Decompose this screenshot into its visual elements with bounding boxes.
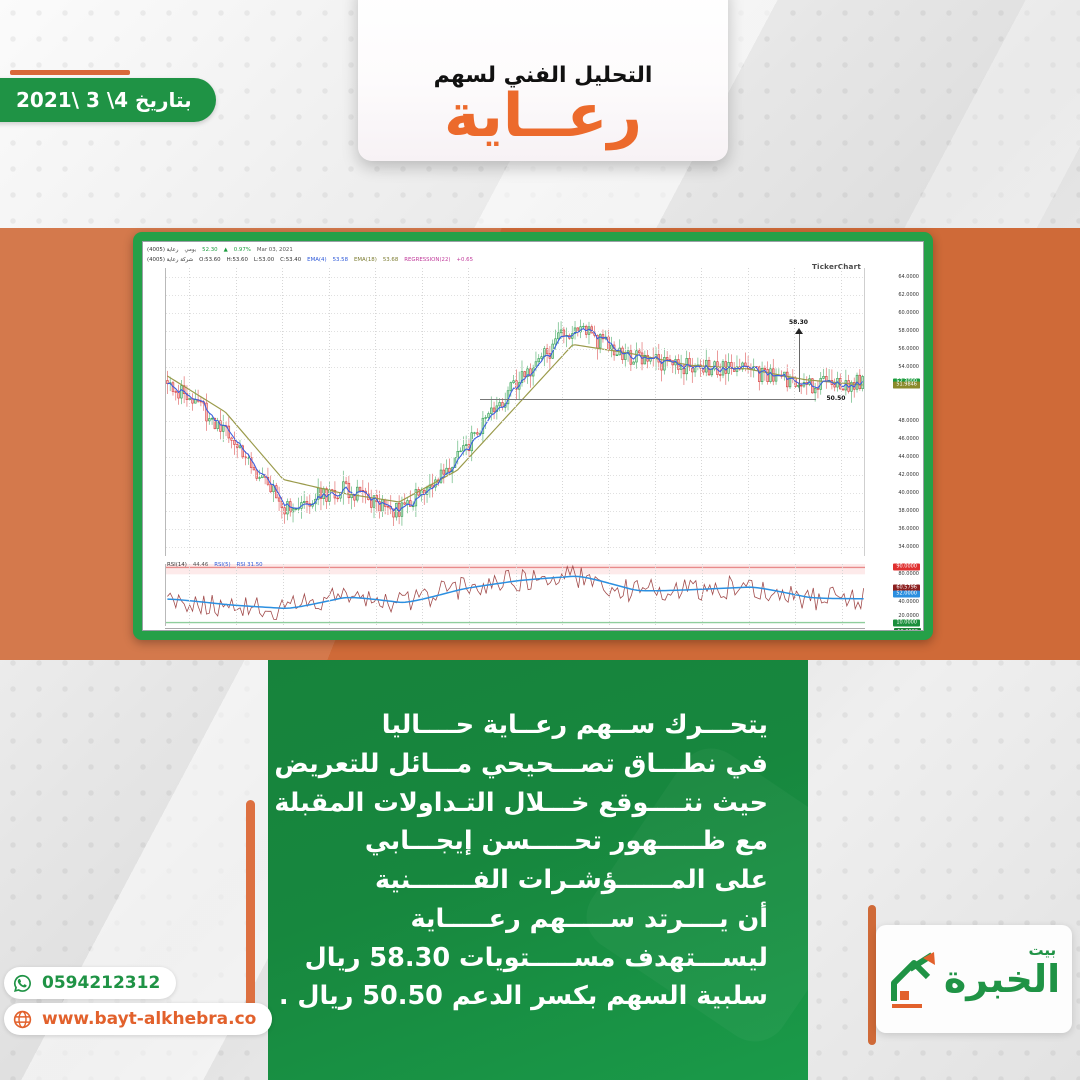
grid-line-v xyxy=(841,268,842,556)
title-company-name: رعــاية xyxy=(444,86,642,147)
chart-ema18-label: EMA(18) xyxy=(354,257,377,263)
grid-line-v xyxy=(376,564,377,626)
grid-line-v xyxy=(236,268,237,556)
rsi-axis: 80.000040.000020.000090.000060.579652.00… xyxy=(867,564,921,626)
grid-line-v xyxy=(329,564,330,626)
grid-line-h xyxy=(166,295,864,296)
grid-line-v xyxy=(189,564,190,626)
grid-line-h xyxy=(166,439,864,440)
chart-ema4-value: 53.58 xyxy=(333,257,348,263)
grid-line-v xyxy=(562,268,563,556)
support-price-label: 50.50 xyxy=(827,395,846,402)
chart-last-price: 52.30 xyxy=(202,247,217,253)
grid-line-h xyxy=(166,421,864,422)
price-axis-label: 54.0000 xyxy=(898,364,919,370)
analysis-line-3: حيث نتــــوقع خـــلال التـداولات المقبلة xyxy=(302,784,768,823)
chart-header-line2: شركة رعاية (4005) O:53.60 H:53.60 L:53.0… xyxy=(147,255,919,265)
grid-line-h xyxy=(166,493,864,494)
analysis-line-8: سلبية السهم بكسر الدعم 50.50 ريال . xyxy=(302,977,768,1016)
grid-line-v xyxy=(562,564,563,626)
rsi-axis-label: 20.0000 xyxy=(898,613,919,619)
price-axis-label: 34.0000 xyxy=(898,544,919,550)
contact-phone[interactable]: 0594212312 xyxy=(4,967,176,999)
grid-line-v xyxy=(515,268,516,556)
chart-ema4-label: EMA(4) xyxy=(307,257,326,263)
chart-symbol-ar: رعاية (4005) xyxy=(147,247,179,253)
analysis-line-5: على المــــــؤشـرات الفـــــــنية xyxy=(302,861,768,900)
rsi14-value: 44.46 xyxy=(193,562,208,568)
grid-line-h xyxy=(166,349,864,350)
grid-line-v xyxy=(375,268,376,556)
contact-website[interactable]: www.bayt-alkhebra.co xyxy=(4,1003,272,1035)
price-axis-label: 56.0000 xyxy=(898,346,919,352)
time-axis-end-badge: 10.0000 xyxy=(894,628,921,631)
grid-line-v xyxy=(329,268,330,556)
rsi5-label: RSI(5) xyxy=(214,562,230,568)
price-axis-label: 58.0000 xyxy=(898,328,919,334)
grid-line-h xyxy=(166,277,864,278)
target-arrow-head-icon xyxy=(795,328,803,334)
grid-line-v xyxy=(236,564,237,626)
grid-line-v xyxy=(749,564,750,626)
chart-frame: رعاية (4005) يومي 52.30 ▲ 0.97% Mar 03, … xyxy=(133,232,933,640)
analysis-panel: يتحـــرك ســهم رعــاية حــــاليافي نطـــ… xyxy=(268,660,808,1080)
target-price-label: 58.30 xyxy=(789,319,808,326)
chart-change-arrow-icon: ▲ xyxy=(224,247,228,253)
grid-line-v xyxy=(468,268,469,556)
chart-high: H:53.60 xyxy=(227,257,248,263)
grid-line-v xyxy=(655,564,656,626)
contact-website-text: www.bayt-alkhebra.co xyxy=(42,1009,256,1029)
chart-date: Mar 03, 2021 xyxy=(257,247,293,253)
contact-phone-text: 0594212312 xyxy=(42,973,160,993)
rsi-axis-highlight: 52.0000 xyxy=(893,590,920,597)
grid-line-v xyxy=(422,564,423,626)
grid-line-h xyxy=(166,313,864,314)
grid-line-v xyxy=(608,268,609,556)
title-card: التحليل الفني لسهم رعــاية xyxy=(358,0,728,161)
rsi14-label: RSI(14) xyxy=(167,562,187,568)
grid-line-v xyxy=(748,268,749,556)
rsi-axis-label: 80.0000 xyxy=(898,571,919,577)
orange-bar-logo xyxy=(868,905,876,1045)
grid-line-h xyxy=(166,547,864,548)
analysis-text: يتحـــرك ســهم رعــاية حــــاليافي نطـــ… xyxy=(268,660,808,1016)
logo-wordmark: بيت الخبرة xyxy=(944,960,1060,998)
grid-line-v xyxy=(702,564,703,626)
chart-period-ar: يومي xyxy=(185,247,197,253)
grid-line-v xyxy=(283,564,284,626)
support-level-line xyxy=(480,399,816,401)
rsi-axis-highlight: 10.0000 xyxy=(893,619,920,626)
grid-line-v xyxy=(795,564,796,626)
price-axis-label: 48.0000 xyxy=(898,418,919,424)
analysis-line-7: ليســـتهدف مســـــتويات 58.30 ريال xyxy=(302,939,768,978)
analysis-line-1: يتحـــرك ســهم رعــاية حــــاليا xyxy=(302,706,768,745)
panel-accent-bar xyxy=(246,800,255,1020)
price-axis-label: 36.0000 xyxy=(898,526,919,532)
grid-line-v xyxy=(282,268,283,556)
logo-word-top: بيت xyxy=(1028,943,1056,958)
chart-open: O:53.60 xyxy=(199,257,220,263)
price-axis-label: 60.0000 xyxy=(898,310,919,316)
rsi-axis-highlight: 90.0000 xyxy=(893,564,920,571)
grid-line-v xyxy=(794,268,795,556)
grid-line-h xyxy=(166,331,864,332)
chart-canvas[interactable]: رعاية (4005) يومي 52.30 ▲ 0.97% Mar 03, … xyxy=(142,241,924,631)
chart-close: C:53.40 xyxy=(280,257,301,263)
analysis-line-4: مع ظـــــهور تحـــــسن إيجـــابي xyxy=(302,822,768,861)
grid-line-h xyxy=(166,367,864,368)
price-axis-highlight: 51.9846 xyxy=(893,382,920,389)
rsi-axis-label: 40.0000 xyxy=(898,599,919,605)
grid-line-v xyxy=(422,268,423,556)
price-axis-label: 40.0000 xyxy=(898,490,919,496)
grid-line-v xyxy=(701,268,702,556)
grid-line-v xyxy=(655,268,656,556)
price-axis-label: 64.0000 xyxy=(898,274,919,280)
time-axis: MarAprMayJunJulAugSepOctNovDec2021JanFeb… xyxy=(165,628,865,631)
whatsapp-icon xyxy=(12,973,33,994)
analysis-line-6: أن يــــرتد ســـــهم رعـــــاية xyxy=(302,900,768,939)
chart-low: L:53.00 xyxy=(254,257,274,263)
date-accent-rule xyxy=(10,70,130,75)
chart-regression-value: +0.65 xyxy=(457,257,474,263)
price-axis-label: 44.0000 xyxy=(898,454,919,460)
price-axis-label: 46.0000 xyxy=(898,436,919,442)
chart-change-percent: 0.97% xyxy=(234,247,251,253)
rsi5-value: RSI 31.50 xyxy=(237,562,263,568)
price-axis-label: 62.0000 xyxy=(898,292,919,298)
chart-ema18-value: 53.68 xyxy=(383,257,398,263)
brand-logo: بيت الخبرة xyxy=(876,925,1072,1033)
grid-line-h xyxy=(166,511,864,512)
grid-line-h xyxy=(166,475,864,476)
grid-line-v xyxy=(842,564,843,626)
price-axis-label: 38.0000 xyxy=(898,508,919,514)
rsi-plot-area[interactable] xyxy=(165,564,865,626)
grid-line-v xyxy=(516,564,517,626)
date-badge: بتاريخ 4\ 3 \2021 xyxy=(0,78,216,122)
price-plot-area[interactable] xyxy=(165,268,865,556)
grid-line-h xyxy=(166,457,864,458)
chart-header-line1: رعاية (4005) يومي 52.30 ▲ 0.97% Mar 03, … xyxy=(147,245,919,255)
price-axis-label: 42.0000 xyxy=(898,472,919,478)
price-axis: 64.000062.000060.000058.000056.000054.00… xyxy=(867,268,921,556)
analysis-line-2: في نطـــاق تصـــحيحي مـــائل للتعريض xyxy=(302,745,768,784)
grid-line-v xyxy=(609,564,610,626)
grid-line-v xyxy=(469,564,470,626)
target-arrow-stem xyxy=(799,334,801,392)
chart-symbol-full-ar: شركة رعاية (4005) xyxy=(147,257,193,263)
globe-icon xyxy=(12,1009,33,1030)
grid-line-h xyxy=(166,529,864,530)
grid-line-v xyxy=(189,268,190,556)
logo-arrow-house-icon xyxy=(888,949,940,1009)
rsi-header: RSI(14) 44.46 RSI(5) RSI 31.50 xyxy=(167,560,919,570)
chart-regression-label: REGRESSION(22) xyxy=(404,257,450,263)
logo-word-main: الخبرة xyxy=(944,957,1060,1001)
